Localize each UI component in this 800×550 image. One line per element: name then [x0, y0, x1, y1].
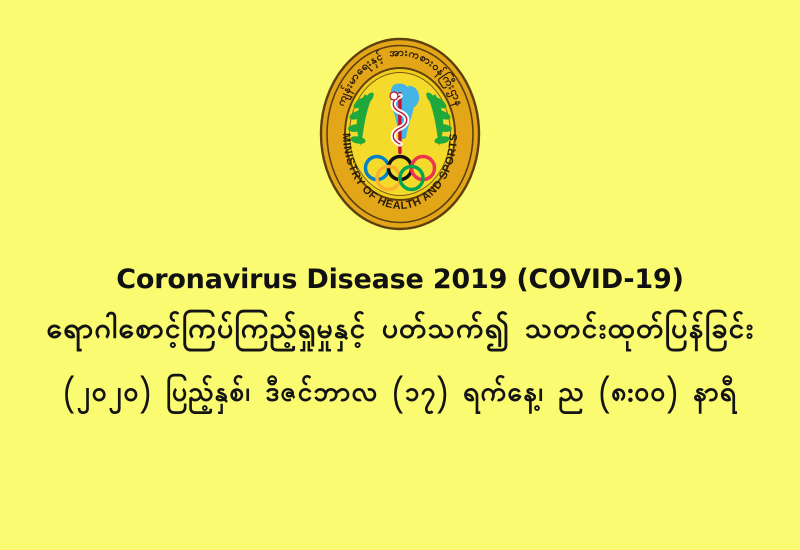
covid-press-release-poster: ကျန်းမာရေးနှင့် အားကစားဝန်ကြီးဌာန MINIST… — [0, 0, 800, 550]
ministry-seal-emblem: ကျန်းမာရေးနှင့် အားကစားဝန်ကြီးဌာန MINIST… — [319, 36, 481, 232]
ministry-seal-svg: ကျန်းမာရေးနှင့် အားကစားဝန်ကြီးဌာန MINIST… — [319, 36, 481, 232]
subject-line-burmese: ရောဂါစောင့်ကြပ်ကြည့်ရှုမှုနှင့် ပတ်သက်၍ … — [14, 308, 786, 353]
page-title: Coronavirus Disease 2019 (COVID-19) — [14, 262, 786, 298]
datetime-line-burmese: (၂၀၂၀) ပြည့်နှစ်၊ ဒီဇင်ဘာလ (၁၇) ရက်နေ့၊ … — [14, 373, 786, 415]
serpent-head — [390, 92, 398, 100]
poster-text-block: Coronavirus Disease 2019 (COVID-19) ရောဂ… — [0, 262, 800, 415]
